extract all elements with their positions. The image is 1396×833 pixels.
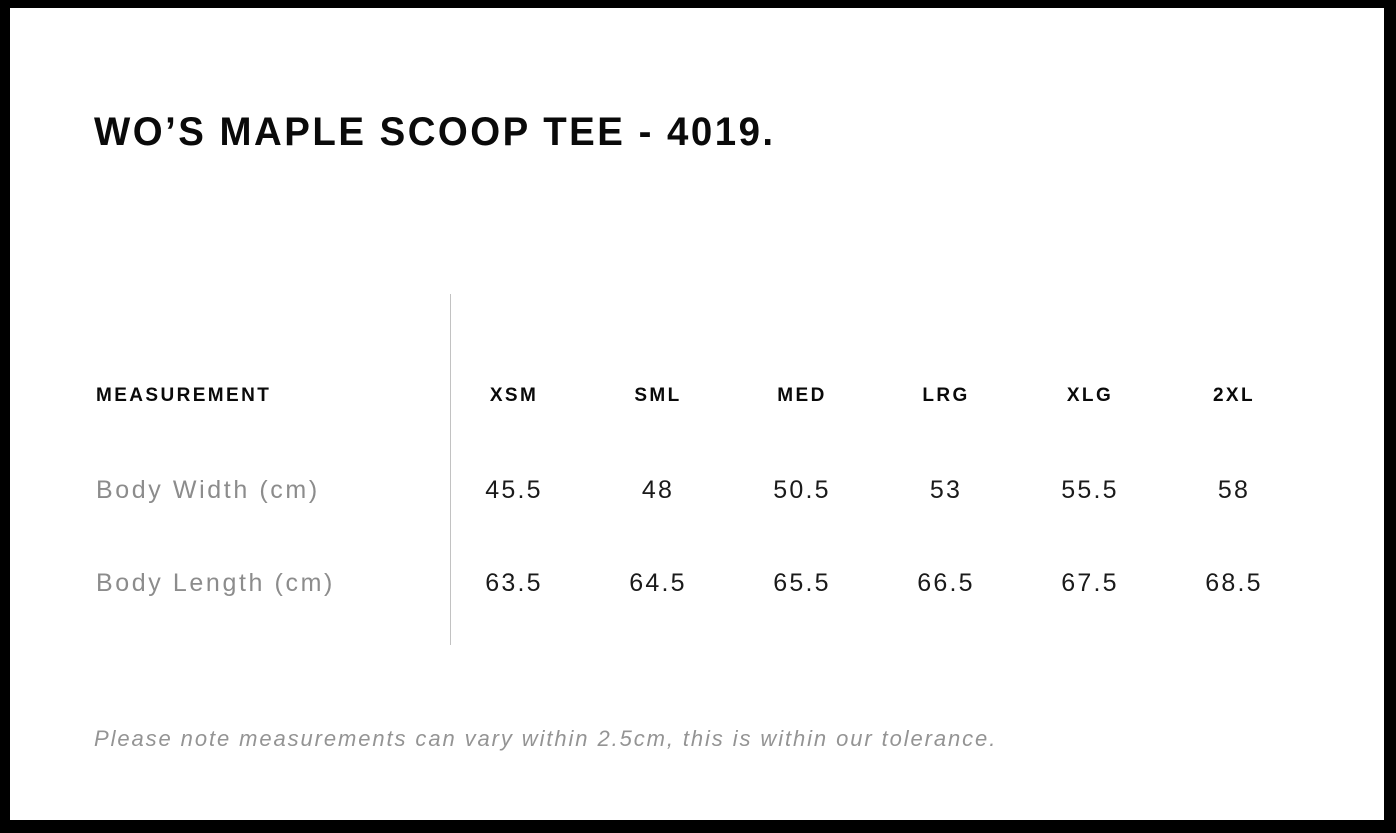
tolerance-note: Please note measurements can vary within…: [94, 722, 997, 756]
column-header-measurement: MEASUREMENT: [94, 348, 442, 444]
cell-body-length-2xl: 68.5: [1162, 537, 1306, 630]
spacer-cell: [1162, 286, 1306, 348]
cell-body-width-xsm: 45.5: [442, 444, 586, 537]
cell-body-width-lrg: 53: [874, 444, 1018, 537]
cell-body-width-xlg: 55.5: [1018, 444, 1162, 537]
cell-body-width-med: 50.5: [730, 444, 874, 537]
spacer-cell: [874, 630, 1018, 702]
column-header-sml: SML: [586, 348, 730, 444]
row-label-body-width: Body Width (cm): [94, 444, 442, 537]
cell-body-length-xlg: 67.5: [1018, 537, 1162, 630]
table-row: Body Width (cm) 45.5 48 50.5 53 55.5 58: [94, 444, 1306, 537]
cell-body-width-2xl: 58: [1162, 444, 1306, 537]
column-header-lrg: LRG: [874, 348, 1018, 444]
table-bottom-spacer: [94, 630, 1306, 702]
spacer-cell: [94, 286, 442, 348]
size-chart-sheet: WO’S MAPLE SCOOP TEE - 4019.: [10, 8, 1384, 820]
spacer-cell: [730, 630, 874, 702]
spacer-cell: [586, 286, 730, 348]
table-row: Body Length (cm) 63.5 64.5 65.5 66.5 67.…: [94, 537, 1306, 630]
row-label-body-length: Body Length (cm): [94, 537, 442, 630]
spacer-cell: [1162, 630, 1306, 702]
column-header-med: MED: [730, 348, 874, 444]
cell-body-width-sml: 48: [586, 444, 730, 537]
spacer-cell: [1018, 630, 1162, 702]
cell-body-length-lrg: 66.5: [874, 537, 1018, 630]
table-header-row: MEASUREMENT XSM SML MED LRG XLG 2XL: [94, 348, 1306, 444]
cell-body-length-sml: 64.5: [586, 537, 730, 630]
column-header-xlg: XLG: [1018, 348, 1162, 444]
page-title: WO’S MAPLE SCOOP TEE - 4019.: [94, 108, 776, 156]
cell-body-length-med: 65.5: [730, 537, 874, 630]
spacer-cell: [442, 630, 586, 702]
spacer-cell: [730, 286, 874, 348]
spacer-cell: [1018, 286, 1162, 348]
spacer-cell: [586, 630, 730, 702]
page-border-frame: WO’S MAPLE SCOOP TEE - 4019.: [0, 0, 1396, 833]
spacer-cell: [442, 286, 586, 348]
cell-body-length-xsm: 63.5: [442, 537, 586, 630]
table-top-spacer: [94, 286, 1306, 348]
column-header-xsm: XSM: [442, 348, 586, 444]
size-chart-table: MEASUREMENT XSM SML MED LRG XLG 2XL Body…: [94, 286, 1306, 702]
spacer-cell: [94, 630, 442, 702]
column-header-2xl: 2XL: [1162, 348, 1306, 444]
spacer-cell: [874, 286, 1018, 348]
